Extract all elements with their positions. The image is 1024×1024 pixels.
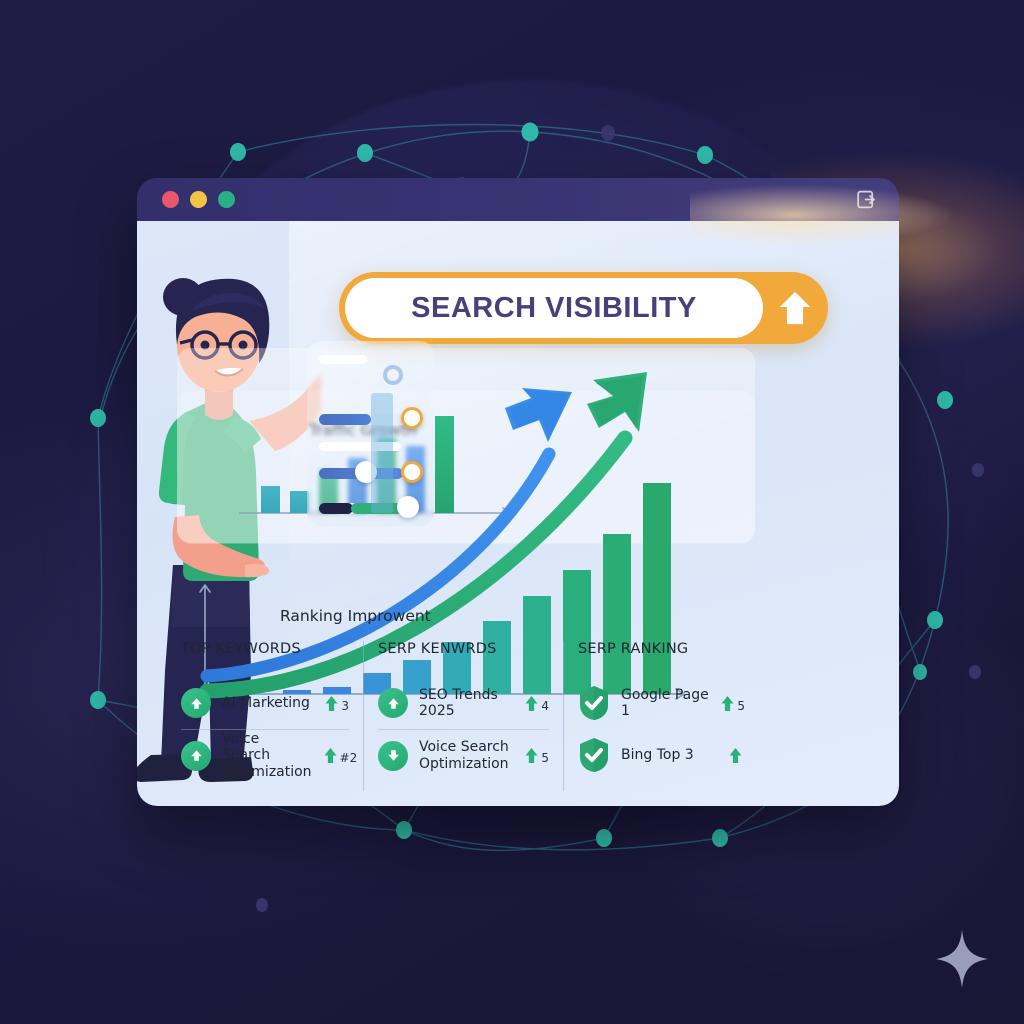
keyword-label: SEO Trends 2025: [419, 687, 513, 719]
panel-ring-icon: [383, 365, 403, 385]
list-item[interactable]: AI Marketing 3: [181, 677, 349, 729]
settings-slider-panel: [307, 341, 434, 526]
arrow-up-badge-icon: [378, 688, 408, 718]
export-window-icon[interactable]: [856, 189, 877, 210]
trend-indicator: 5: [524, 746, 549, 765]
trend-value: #2: [340, 751, 358, 765]
search-input[interactable]: SEARCH VISIBILITY: [345, 278, 763, 338]
trend-up-icon: [720, 694, 735, 713]
panel-accent-bar: [371, 393, 393, 513]
ranking-label: Bing Top 3: [621, 747, 717, 763]
stats-panel: TOP KEYWORDS AI Marketing 3: [167, 641, 767, 791]
window-content: SEARCH VISIBILITY: [137, 221, 899, 806]
list-item[interactable]: Voice Search Optimization 5: [378, 729, 549, 781]
shield-check-icon: [578, 685, 610, 721]
column-title: SERP RANKING: [578, 641, 745, 657]
slider-knob-1[interactable]: [401, 407, 423, 429]
trend-indicator: 5: [720, 694, 745, 713]
column-title: SERP KENWRDS: [378, 641, 549, 657]
maximize-button[interactable]: [218, 191, 235, 208]
illustration-canvas: SEARCH VISIBILITY: [0, 0, 1024, 1024]
keyword-label: Voice Search Optimization: [222, 731, 312, 779]
shield-check-icon: [578, 737, 610, 773]
arrow-up-badge-icon: [181, 688, 211, 718]
trend-indicator: 3: [324, 694, 349, 713]
trend-indicator: 4: [524, 694, 549, 713]
list-item[interactable]: SEO Trends 2025 4: [378, 677, 549, 729]
trend-up-icon: [524, 694, 539, 713]
trend-value: 5: [541, 751, 549, 765]
keyword-label: Voice Search Optimization: [419, 739, 513, 771]
ranking-improvement-label: Ranking Improwent: [280, 607, 431, 625]
list-item[interactable]: Bing Top 3: [578, 729, 745, 781]
ranking-label: Google Page 1: [621, 687, 709, 719]
trend-up-icon: [324, 694, 339, 713]
arrow-down-badge-icon: [378, 741, 408, 771]
search-input-value: SEARCH VISIBILITY: [411, 292, 697, 325]
column-title: TOP KEYWORDS: [181, 641, 349, 657]
search-bar[interactable]: SEARCH VISIBILITY: [339, 272, 828, 344]
list-item[interactable]: Voice Search Optimization #2: [181, 729, 349, 781]
arrow-up-icon[interactable]: [776, 288, 814, 328]
arrow-up-badge-icon: [181, 741, 211, 771]
trend-value: 3: [341, 699, 349, 713]
trend-up-icon: [323, 746, 338, 765]
close-button[interactable]: [162, 191, 179, 208]
trend-indicator: [728, 746, 745, 765]
browser-window: SEARCH VISIBILITY: [137, 178, 899, 806]
minimize-button[interactable]: [190, 191, 207, 208]
window-titlebar: [137, 178, 899, 221]
slider-knob-2b[interactable]: [401, 461, 423, 483]
panel-placeholder-bar: [319, 355, 367, 364]
trend-value: 5: [737, 699, 745, 713]
trend-up-icon: [524, 746, 539, 765]
stats-column-serp-ranking: SERP RANKING Google Page 1 5: [563, 641, 759, 791]
slider-fill-1: [319, 414, 371, 425]
trend-indicator: #2: [323, 746, 358, 765]
sparkle-star-icon: [936, 930, 988, 988]
stats-column-top-keywords: TOP KEYWORDS AI Marketing 3: [167, 641, 363, 791]
slider-fill-3: [319, 503, 353, 514]
traffic-light-buttons: [162, 191, 235, 208]
trend-up-icon: [728, 746, 743, 765]
slider-knob-3[interactable]: [397, 496, 419, 518]
stats-column-serp-kenwrds: SERP KENWRDS SEO Trends 2025 4: [363, 641, 563, 791]
list-item[interactable]: Google Page 1 5: [578, 677, 745, 729]
keyword-label: AI Marketing: [222, 695, 313, 711]
trend-value: 4: [541, 699, 549, 713]
